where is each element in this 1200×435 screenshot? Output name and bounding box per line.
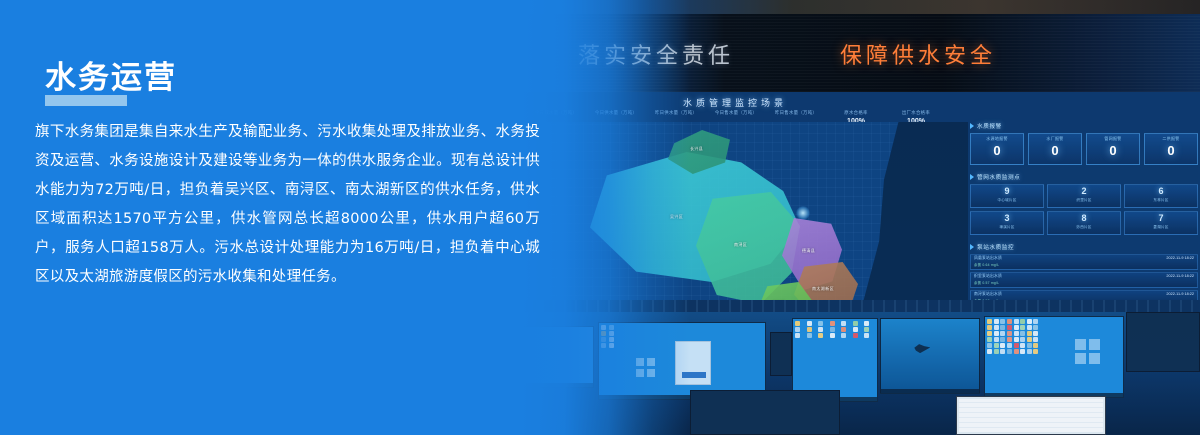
operator-screen-windows-desktop	[984, 316, 1124, 398]
slogan-right: 保障供水安全	[840, 38, 996, 70]
map-highlight-marker	[796, 206, 810, 220]
monitor-point-value: 3	[971, 212, 1043, 225]
desktop-icon	[830, 333, 835, 338]
desktop-icon	[1007, 349, 1012, 354]
desktop-icon	[1033, 337, 1038, 342]
taskbar	[881, 389, 979, 393]
desktop-icon	[841, 321, 846, 326]
chevron-right-icon	[970, 174, 974, 180]
desktop-icon	[1033, 319, 1038, 324]
log-name: 凤凰泵站出水质	[974, 256, 1194, 261]
kpi-item: 今日供水量（万吨）	[586, 110, 646, 118]
desktop-icon	[1007, 331, 1012, 336]
desktop-icon	[987, 343, 992, 348]
monitor-point-cell: 9 中心城片区	[970, 184, 1044, 208]
desktop-icon	[994, 343, 999, 348]
dashboard-panels: 水质报警 水源地报警 0 水厂报警 0 管网报警 0	[970, 122, 1198, 314]
monitor-point-grid: 9 中心城片区 2 织里片区 6 东林片区 3	[970, 184, 1198, 235]
desktop-icon	[864, 321, 869, 326]
desktop-icon	[1014, 319, 1019, 324]
kpi-label: 出厂水合格率	[886, 110, 946, 116]
desktop-icon	[795, 321, 800, 326]
desktop-icon	[994, 325, 999, 330]
alarm-card: 水源地报警 0	[970, 133, 1024, 165]
map-label: 长兴县	[690, 146, 703, 152]
map-label: 南太湖新区	[812, 286, 834, 292]
desktop-icon	[1020, 349, 1025, 354]
desktop-icon	[601, 343, 606, 348]
operator-screen-narrow	[770, 332, 792, 376]
log-metric: 余氯 0.57 mg/L	[974, 280, 1194, 285]
desktop-icon	[830, 321, 835, 326]
station-quality-log-list: 凤凰泵站出水质 2022-11-9 18:22 余氯 0.64 mg/L 织里泵…	[970, 254, 1198, 306]
log-row: 凤凰泵站出水质 2022-11-9 18:22 余氯 0.64 mg/L	[970, 254, 1198, 270]
log-row: 织里泵站出水质 2022-11-9 18:22 余氯 0.57 mg/L	[970, 272, 1198, 288]
monitor-point-cell: 3 埭溪片区	[970, 211, 1044, 235]
desktop-icon	[1033, 331, 1038, 336]
title-underline-bar	[45, 95, 127, 106]
alarm-value: 0	[1145, 142, 1197, 160]
monitor-point-cell: 2 织里片区	[1047, 184, 1121, 208]
desktop-icon	[601, 337, 606, 342]
desktop-icon	[841, 327, 846, 332]
operator-screen-main	[598, 322, 766, 400]
desktop-icon	[807, 333, 812, 338]
desktop-icon	[841, 333, 846, 338]
desktop-icon	[853, 327, 858, 332]
desktop-icon	[987, 325, 992, 330]
windows-logo-icon	[636, 358, 656, 378]
operator-screen-underwater	[880, 318, 980, 394]
desktop-icon	[994, 331, 999, 336]
monitor-point-value: 6	[1125, 185, 1197, 198]
desktop-icon	[1000, 349, 1005, 354]
log-name: 织里泵站出水质	[974, 274, 1194, 279]
monitor-point-cell: 7 菱湖片区	[1124, 211, 1198, 235]
kpi-label: 昨日售水量（万吨）	[766, 110, 826, 116]
panel-title: 水质报警	[977, 122, 1002, 130]
spreadsheet-grid	[959, 399, 1103, 432]
video-wall: 落实安全责任 保障供水安全 水质管理监控场景 今日取水量（万吨） 今日供水量（万…	[520, 14, 1200, 314]
alarm-card: 管网报警 0	[1086, 133, 1140, 165]
log-timestamp: 2022-11-9 18:22	[1166, 292, 1194, 296]
desktop-icon	[994, 349, 999, 354]
operator-screen-dark-lower	[690, 390, 840, 435]
desktop-icon	[795, 327, 800, 332]
desktop-icon-grid	[987, 319, 1039, 354]
desktop-icon	[853, 333, 858, 338]
dashboard: 水质管理监控场景 今日取水量（万吨） 今日供水量（万吨） 昨日供水量（万吨）	[520, 92, 1200, 314]
desktop-icon	[1033, 343, 1038, 348]
panel-header-alarm: 水质报警	[970, 122, 1198, 130]
panel-header-station-quality: 泵站水质监控	[970, 243, 1198, 251]
monitor-point-cell: 8 妙西片区	[1047, 211, 1121, 235]
kpi-item: 昨日供水量（万吨）	[646, 110, 706, 118]
desktop-icon	[609, 337, 614, 342]
map-label: 南浔区	[734, 242, 747, 248]
alarm-value: 0	[971, 142, 1023, 160]
desktop-icon	[807, 327, 812, 332]
slogan-banner: 落实安全责任 保障供水安全	[520, 14, 1200, 92]
desktop-icon	[1007, 325, 1012, 330]
monitor-point-label: 中心城片区	[971, 198, 1043, 203]
desktop-icon	[1027, 337, 1032, 342]
monitor-point-value: 9	[971, 185, 1043, 198]
dialog-window	[675, 341, 711, 385]
desktop-icon	[818, 327, 823, 332]
desktop-icon	[1000, 325, 1005, 330]
text-column: 水务运营 旗下水务集团是集自来水生产及输配业务、污水收集处理及排放业务、水务投资…	[0, 0, 560, 435]
desktop-icon	[1000, 331, 1005, 336]
desktop-icon	[609, 343, 614, 348]
alarm-value: 0	[1087, 142, 1139, 160]
desktop-icon	[1007, 337, 1012, 342]
page-title: 水务运营	[45, 52, 177, 97]
desktop-icon	[1000, 343, 1005, 348]
control-room-photo: 落实安全责任 保障供水安全 水质管理监控场景 今日取水量（万吨） 今日供水量（万…	[520, 0, 1200, 435]
desktop-icon	[1027, 349, 1032, 354]
log-metric: 余氯 0.64 mg/L	[974, 262, 1194, 267]
desktop-icon	[987, 331, 992, 336]
monitor-point-label: 妙西片区	[1048, 225, 1120, 230]
desktop-icon	[601, 325, 606, 330]
alarm-card: 二供报警 0	[1144, 133, 1198, 165]
log-timestamp: 2022-11-9 18:22	[1166, 274, 1194, 278]
desktop-icon	[830, 327, 835, 332]
desktop-icon	[994, 337, 999, 342]
desktop-icon	[1027, 325, 1032, 330]
desktop-icon	[1020, 331, 1025, 336]
monitor-point-label: 菱湖片区	[1125, 225, 1197, 230]
chevron-right-icon	[970, 123, 974, 129]
operator-screen-far-right	[1126, 312, 1200, 372]
desktop-icon	[795, 333, 800, 338]
panel-header-monitor-points: 管网水质监测点	[970, 173, 1198, 181]
alarm-value: 0	[1029, 142, 1081, 160]
monitor-point-value: 2	[1048, 185, 1120, 198]
body-paragraph: 旗下水务集团是集自来水生产及输配业务、污水收集处理及排放业务、水务投资及运营、水…	[35, 118, 540, 292]
map-label: 吴兴区	[670, 214, 683, 220]
desktop-icon	[1027, 331, 1032, 336]
operator-screen-spreadsheet	[956, 396, 1106, 435]
log-name: 南浔泵站出水质	[974, 292, 1194, 297]
region-map: 吴兴区 长兴县 南浔区 德清县 南太湖新区 安吉县	[520, 122, 968, 314]
desktop-icon	[1033, 325, 1038, 330]
windows-logo-icon	[1075, 339, 1101, 365]
map-label: 德清县	[802, 248, 815, 254]
alarm-card: 水厂报警 0	[1028, 133, 1082, 165]
desktop-icon	[1020, 325, 1025, 330]
desktop-icon	[818, 333, 823, 338]
desktop-icon	[994, 319, 999, 324]
desktop-icon	[1027, 343, 1032, 348]
monitor-point-label: 织里片区	[1048, 198, 1120, 203]
desktop-icon	[1000, 319, 1005, 324]
desktop-icon	[864, 327, 869, 332]
desktop-icon	[1020, 343, 1025, 348]
desktop-icon	[1000, 337, 1005, 342]
kpi-item: 今日售水量（万吨）	[706, 110, 766, 118]
desktop-icon	[1020, 337, 1025, 342]
desktop-icon	[609, 325, 614, 330]
monitor-point-value: 7	[1125, 212, 1197, 225]
diver-silhouette	[914, 344, 930, 353]
desktop-icon	[987, 319, 992, 324]
desktop-icon	[1007, 319, 1012, 324]
chevron-right-icon	[970, 244, 974, 250]
operator-desk	[520, 312, 1200, 435]
desktop-icon	[807, 321, 812, 326]
monitor-point-cell: 6 东林片区	[1124, 184, 1198, 208]
desktop-icon	[1033, 349, 1038, 354]
kpi-label: 昨日供水量（万吨）	[646, 110, 706, 116]
desktop-icon	[864, 333, 869, 338]
desktop-icon	[1014, 331, 1019, 336]
desktop-icon	[1014, 337, 1019, 342]
slogan-left: 落实安全责任	[578, 38, 734, 70]
desktop-icon	[1014, 349, 1019, 354]
desktop-icon	[1014, 325, 1019, 330]
banner-root: 落实安全责任 保障供水安全 水质管理监控场景 今日取水量（万吨） 今日供水量（万…	[0, 0, 1200, 435]
desktop-icon	[987, 349, 992, 354]
monitor-point-label: 埭溪片区	[971, 225, 1043, 230]
desktop-icon	[818, 321, 823, 326]
desktop-icon	[609, 331, 614, 336]
desktop-icon-grid	[795, 321, 875, 338]
desktop-icon-grid	[601, 325, 615, 348]
alarm-card-row: 水源地报警 0 水厂报警 0 管网报警 0 二供报警	[970, 133, 1198, 165]
panel-title: 泵站水质监控	[977, 243, 1014, 251]
desktop-icon	[1027, 319, 1032, 324]
kpi-label: 今日供水量（万吨）	[586, 110, 646, 116]
desktop-icon	[1007, 343, 1012, 348]
desktop-icon	[1014, 343, 1019, 348]
monitor-point-label: 东林片区	[1125, 198, 1197, 203]
desktop-icon	[987, 337, 992, 342]
log-timestamp: 2022-11-9 18:22	[1166, 256, 1194, 260]
monitor-point-value: 8	[1048, 212, 1120, 225]
desktop-icon	[1020, 319, 1025, 324]
dashboard-title: 水质管理监控场景	[520, 96, 950, 109]
kpi-label: 原水合格率	[826, 110, 886, 116]
desktop-icon	[853, 321, 858, 326]
desktop-icon	[601, 331, 606, 336]
kpi-label: 今日售水量（万吨）	[706, 110, 766, 116]
kpi-item: 昨日售水量（万吨）	[766, 110, 826, 118]
panel-title: 管网水质监测点	[977, 173, 1020, 181]
